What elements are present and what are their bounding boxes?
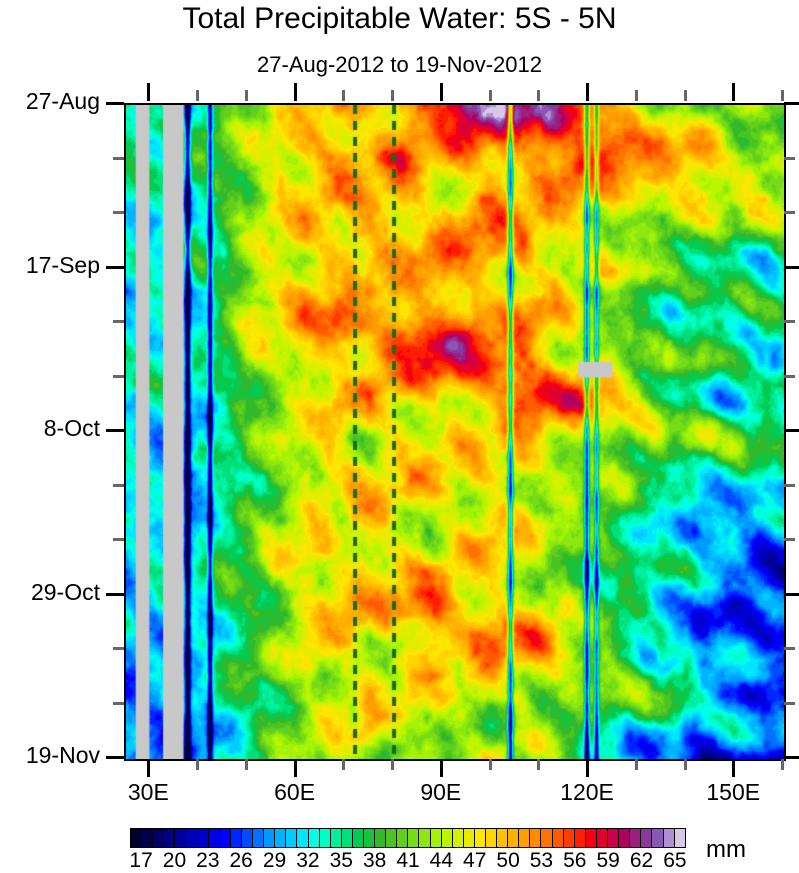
y-axis-minor-tick-right <box>784 211 795 214</box>
y-axis-minor-tick <box>113 375 124 378</box>
colorbar-cell <box>175 829 186 847</box>
x-axis-label: 30E <box>88 779 208 806</box>
y-axis-minor-tick-right <box>784 320 795 323</box>
colorbar-tick-label: 44 <box>430 849 453 873</box>
colorbar-cell <box>508 829 519 847</box>
colorbar-tick-label: 59 <box>596 849 619 873</box>
y-axis-minor-tick <box>113 484 124 487</box>
y-axis-major-tick <box>106 593 124 596</box>
x-axis-minor-tick <box>489 759 492 770</box>
colorbar-cell <box>297 829 308 847</box>
colorbar-cell <box>486 829 497 847</box>
colorbar-cell <box>253 829 264 847</box>
colorbar-cell <box>342 829 353 847</box>
colorbar-cell <box>541 829 552 847</box>
x-axis-major-tick-top <box>732 83 735 101</box>
x-axis-major-tick <box>294 759 297 777</box>
y-axis-minor-tick-right <box>784 538 795 541</box>
x-axis-minor-tick <box>245 759 248 770</box>
y-axis-minor-tick <box>113 211 124 214</box>
colorbar-tick-label: 20 <box>163 849 186 873</box>
colorbar-tick-label: 23 <box>196 849 219 873</box>
y-axis-major-tick-right <box>784 593 799 596</box>
chart-subtitle: 27-Aug-2012 to 19-Nov-2012 <box>0 52 799 78</box>
y-axis-minor-tick <box>113 320 124 323</box>
x-axis-major-tick <box>586 759 589 777</box>
x-axis-label: 120E <box>527 779 647 806</box>
colorbar-cell <box>453 829 464 847</box>
y-axis-label: 29-Oct <box>0 579 100 606</box>
colorbar-cell <box>397 829 408 847</box>
colorbar-tick-label: 26 <box>230 849 253 873</box>
colorbar-cell <box>519 829 530 847</box>
colorbar-tick-label: 41 <box>396 849 419 873</box>
colorbar-tick-label: 32 <box>296 849 319 873</box>
y-axis-major-tick <box>106 266 124 269</box>
colorbar-cell <box>664 829 675 847</box>
chart-title: Total Precipitable Water: 5S - 5N <box>0 2 799 36</box>
x-axis-minor-tick-top <box>489 90 492 101</box>
y-axis-label: 8-Oct <box>0 415 100 442</box>
y-axis-minor-tick-right <box>784 484 795 487</box>
plot-area <box>124 103 786 761</box>
x-axis-major-tick <box>732 759 735 777</box>
y-axis-major-tick-right <box>784 429 799 432</box>
colorbar-cell <box>153 829 164 847</box>
colorbar <box>130 828 686 848</box>
colorbar-cell <box>408 829 419 847</box>
colorbar-cell <box>608 829 619 847</box>
colorbar-tick-label: 17 <box>129 849 152 873</box>
colorbar-cell <box>442 829 453 847</box>
colorbar-tick-label: 65 <box>663 849 686 873</box>
y-axis-minor-tick-right <box>784 647 795 650</box>
x-axis-minor-tick <box>684 759 687 770</box>
x-axis-minor-tick-top <box>245 90 248 101</box>
colorbar-cell <box>331 829 342 847</box>
y-axis-minor-tick <box>113 647 124 650</box>
colorbar-tick-label: 47 <box>463 849 486 873</box>
colorbar-cell <box>198 829 209 847</box>
x-axis-major-tick <box>440 759 443 777</box>
colorbar-cell <box>353 829 364 847</box>
x-axis-minor-tick-top <box>684 90 687 101</box>
colorbar-cell <box>386 829 397 847</box>
x-axis-minor-tick-top <box>781 90 784 101</box>
colorbar-cell <box>675 829 685 847</box>
colorbar-cell <box>597 829 608 847</box>
colorbar-cell <box>630 829 641 847</box>
colorbar-cell <box>431 829 442 847</box>
y-axis-major-tick-right <box>784 266 799 269</box>
x-axis-label: 60E <box>235 779 355 806</box>
colorbar-cell <box>242 829 253 847</box>
x-axis-label: 150E <box>673 779 793 806</box>
y-axis-major-tick <box>106 102 124 105</box>
colorbar-cell <box>131 829 142 847</box>
colorbar-cell <box>364 829 375 847</box>
colorbar-cell <box>286 829 297 847</box>
y-axis-label: 19-Nov <box>0 742 100 769</box>
precipitable-water-hovmoller-figure: Total Precipitable Water: 5S - 5N 27-Aug… <box>0 0 799 872</box>
colorbar-cell <box>264 829 275 847</box>
x-axis-minor-tick-top <box>391 90 394 101</box>
x-axis-minor-tick <box>342 759 345 770</box>
x-axis-major-tick <box>147 759 150 777</box>
x-axis-major-tick-top <box>440 83 443 101</box>
colorbar-cell <box>464 829 475 847</box>
colorbar-cell <box>209 829 220 847</box>
colorbar-cell <box>164 829 175 847</box>
colorbar-tick-label: 53 <box>530 849 553 873</box>
x-axis-minor-tick-top <box>635 90 638 101</box>
x-axis-minor-tick-top <box>342 90 345 101</box>
x-axis-label: 90E <box>381 779 501 806</box>
colorbar-units-label: mm <box>706 836 746 864</box>
x-axis-minor-tick-top <box>537 90 540 101</box>
y-axis-minor-tick-right <box>784 157 795 160</box>
x-axis-minor-tick <box>391 759 394 770</box>
x-axis-minor-tick <box>537 759 540 770</box>
y-axis-major-tick <box>106 756 124 759</box>
colorbar-cell <box>220 829 231 847</box>
y-axis-label: 27-Aug <box>0 88 100 115</box>
colorbar-cell <box>652 829 663 847</box>
colorbar-cell <box>553 829 564 847</box>
colorbar-cell <box>497 829 508 847</box>
colorbar-tick-label: 35 <box>330 849 353 873</box>
x-axis-minor-tick <box>781 759 784 770</box>
y-axis-major-tick <box>106 429 124 432</box>
colorbar-cell <box>475 829 486 847</box>
colorbar-cell <box>619 829 630 847</box>
y-axis-minor-tick-right <box>784 375 795 378</box>
y-axis-minor-tick-right <box>784 702 795 705</box>
colorbar-cell <box>641 829 652 847</box>
x-axis-major-tick-top <box>147 83 150 101</box>
y-axis-major-tick-right <box>784 102 799 105</box>
x-axis-major-tick-top <box>586 83 589 101</box>
colorbar-cell <box>530 829 541 847</box>
x-axis-minor-tick <box>635 759 638 770</box>
y-axis-major-tick-right <box>784 756 799 759</box>
colorbar-cell <box>586 829 597 847</box>
colorbar-cell <box>375 829 386 847</box>
heatmap-canvas <box>126 105 784 759</box>
colorbar-cell <box>320 829 331 847</box>
colorbar-tick-label: 38 <box>363 849 386 873</box>
colorbar-cell <box>142 829 153 847</box>
colorbar-tick-label: 56 <box>563 849 586 873</box>
colorbar-cell <box>186 829 197 847</box>
y-axis-label: 17-Sep <box>0 252 100 279</box>
colorbar-cell <box>564 829 575 847</box>
y-axis-minor-tick <box>113 157 124 160</box>
colorbar-cell <box>419 829 430 847</box>
colorbar-tick-label: 29 <box>263 849 286 873</box>
colorbar-tick-label: 50 <box>496 849 519 873</box>
colorbar-cell <box>275 829 286 847</box>
colorbar-tick-label: 62 <box>630 849 653 873</box>
x-axis-minor-tick-top <box>196 90 199 101</box>
y-axis-minor-tick <box>113 538 124 541</box>
colorbar-cell <box>575 829 586 847</box>
y-axis-minor-tick <box>113 702 124 705</box>
colorbar-cell <box>231 829 242 847</box>
x-axis-major-tick-top <box>294 83 297 101</box>
colorbar-cell <box>309 829 320 847</box>
x-axis-minor-tick <box>196 759 199 770</box>
